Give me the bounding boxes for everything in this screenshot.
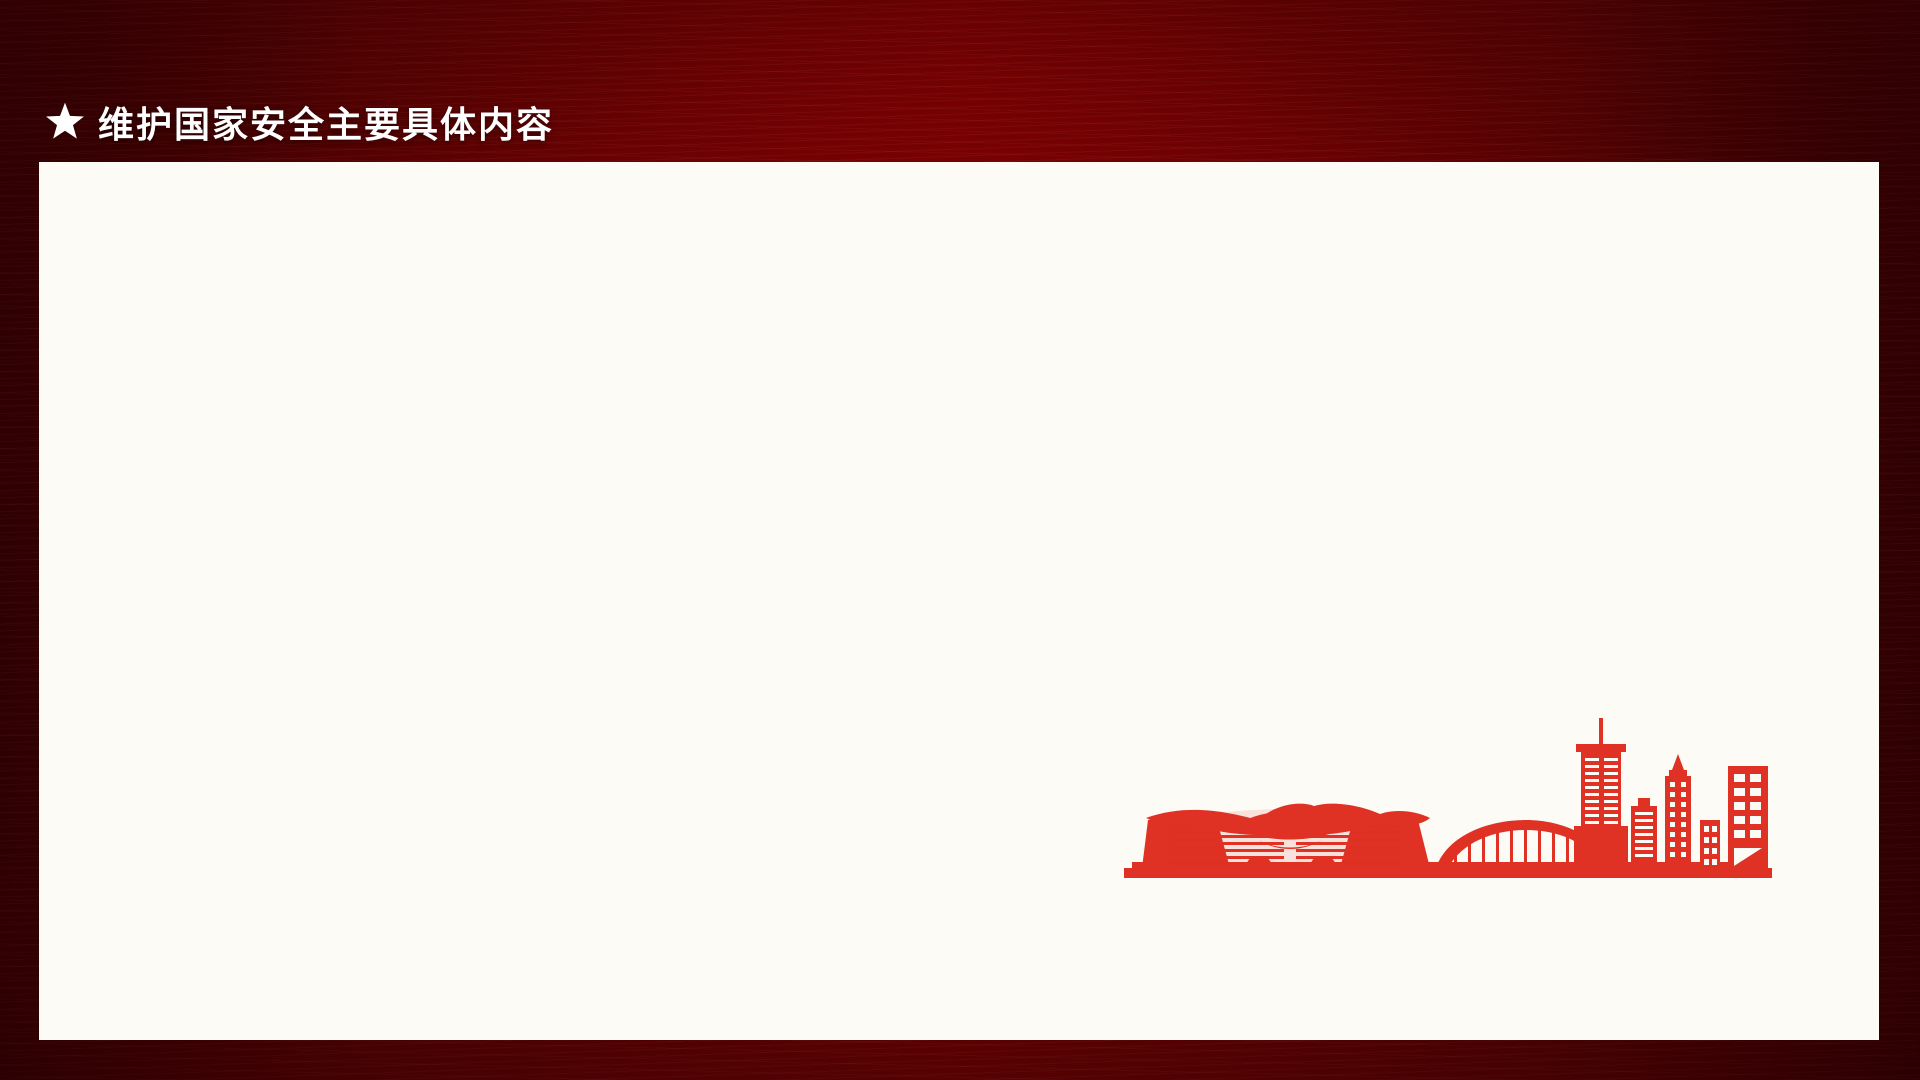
page-header: 维护国家安全主要具体内容 <box>44 96 554 148</box>
page-title: 维护国家安全主要具体内容 <box>98 96 554 148</box>
star-icon <box>44 101 86 143</box>
content-panel <box>39 162 1879 1040</box>
city-skyline-illustration <box>1118 708 1778 880</box>
